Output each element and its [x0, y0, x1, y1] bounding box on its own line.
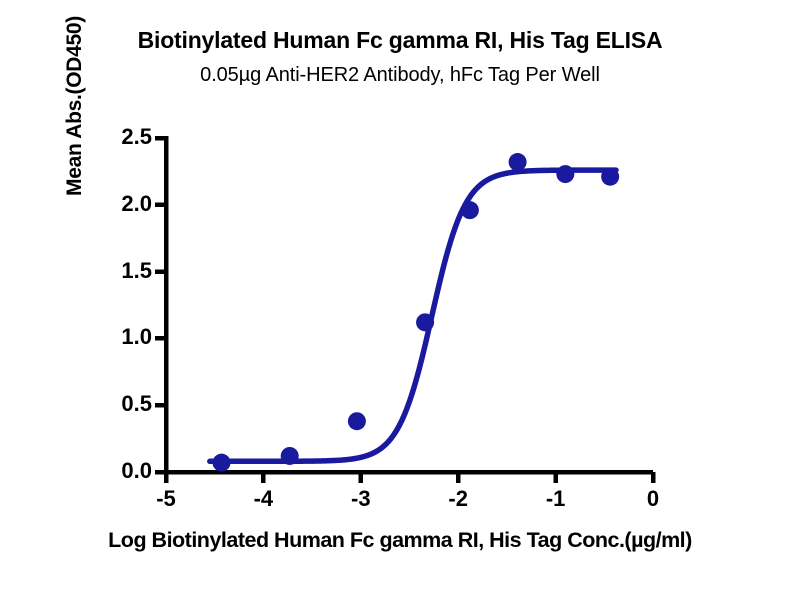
y-axis-tick-label: 0.5	[92, 391, 152, 417]
data-point-marker	[556, 165, 574, 183]
data-point-marker	[601, 168, 619, 186]
x-axis-tick-label: -2	[438, 486, 478, 512]
plot-area: -5-4-3-2-100.00.51.01.52.02.5	[0, 0, 800, 600]
data-point-marker	[509, 153, 527, 171]
y-axis-tick-label: 2.0	[92, 191, 152, 217]
x-axis-tick-label: 0	[633, 486, 673, 512]
fit-curve	[210, 170, 616, 461]
y-axis-tick-label: 0.0	[92, 458, 152, 484]
data-point-marker	[213, 454, 231, 472]
y-axis-tick-label: 1.5	[92, 258, 152, 284]
data-point-marker	[348, 412, 366, 430]
y-axis-tick-label: 1.0	[92, 324, 152, 350]
x-axis-tick-label: -4	[243, 486, 283, 512]
elisa-chart-figure: Biotinylated Human Fc gamma RI, His Tag …	[0, 0, 800, 600]
x-axis-tick-label: -3	[341, 486, 381, 512]
data-point-marker	[416, 313, 434, 331]
x-axis-tick-label: -5	[146, 486, 186, 512]
x-axis-tick-label: -1	[536, 486, 576, 512]
data-point-marker	[461, 201, 479, 219]
y-axis-tick-label: 2.5	[92, 124, 152, 150]
plot-svg	[0, 0, 800, 600]
data-point-marker	[281, 447, 299, 465]
